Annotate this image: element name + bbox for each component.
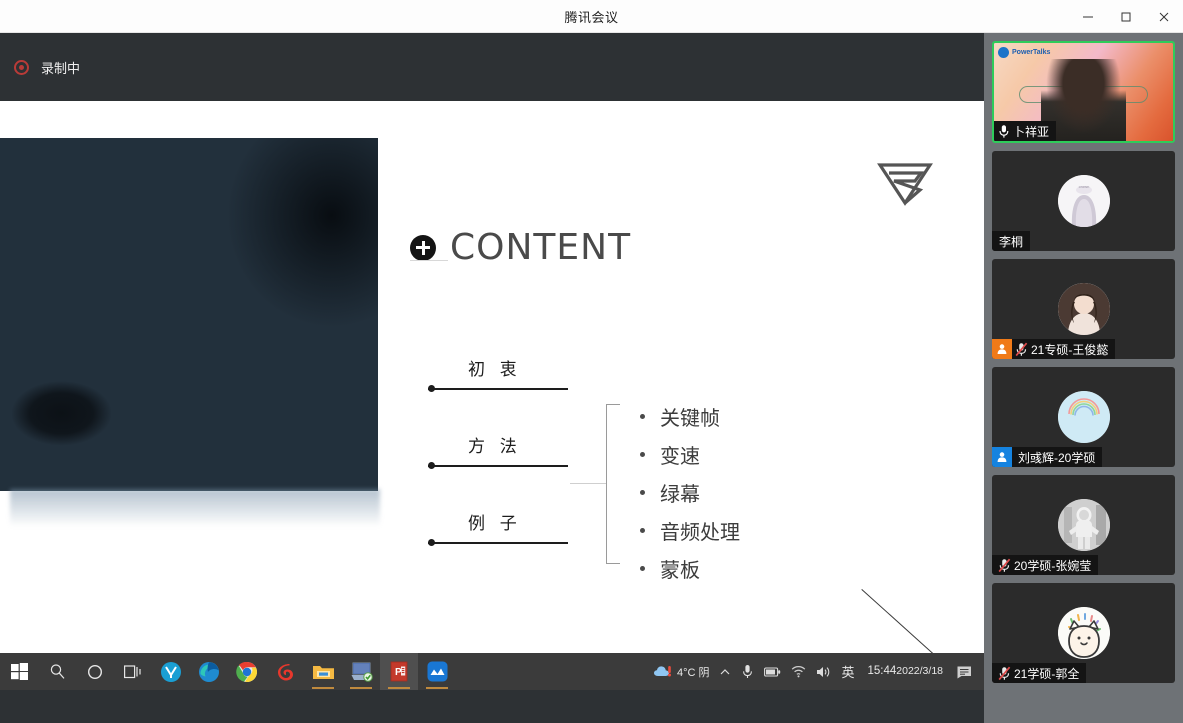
bullet-label: 关键帧 <box>660 402 720 431</box>
shared-screen-area: 录制中 CONTENT <box>0 33 984 723</box>
app-file-explorer[interactable] <box>304 653 342 690</box>
tray-volume[interactable] <box>811 653 836 690</box>
outline-rule <box>428 542 568 544</box>
slide-bullet-list: 关键帧 变速 绿幕 音频处理 蒙板 <box>640 397 740 587</box>
youdao-icon <box>160 661 182 683</box>
bullet-item: 绿幕 <box>640 473 740 511</box>
blue-app-icon <box>427 661 448 682</box>
host-badge <box>992 339 1012 359</box>
woman-portrait-avatar <box>1058 283 1110 335</box>
powertalks-logo-icon: PowerTalks <box>998 47 1050 58</box>
bullet-dot-icon <box>640 528 645 533</box>
app-sogou[interactable] <box>266 653 304 690</box>
recording-label: 录制中 <box>41 58 80 77</box>
recording-bar: 录制中 <box>0 33 984 101</box>
microphone-muted-icon <box>995 666 1014 681</box>
participant-name: 21专硕-王俊懿 <box>1031 341 1108 358</box>
participant-name: 21学硕-郭全 <box>1014 665 1079 682</box>
participant-name: 刘彧辉-20学硕 <box>1018 449 1095 466</box>
bullet-label: 蒙板 <box>660 554 700 583</box>
bullet-dot-icon <box>640 414 645 419</box>
app-chrome[interactable] <box>228 653 266 690</box>
tray-wifi[interactable] <box>786 653 811 690</box>
bullet-dot-icon <box>640 566 645 571</box>
participant-tile[interactable]: PowerTalks 卜祥亚 <box>992 41 1175 143</box>
minimize-button[interactable] <box>1069 0 1107 33</box>
avatar: crown <box>1058 175 1110 227</box>
start-button[interactable] <box>0 653 38 690</box>
battery-icon <box>764 666 781 678</box>
slide-photo-texture <box>0 138 378 491</box>
bullet-label: 绿幕 <box>660 478 700 507</box>
weather-widget[interactable]: 4°C 阴 <box>648 653 715 690</box>
edge-icon <box>198 661 220 683</box>
circle-icon <box>87 664 103 680</box>
participant-nametag: 20学硕-张婉莹 <box>992 555 1098 575</box>
participant-name: 卜祥亚 <box>1013 123 1049 140</box>
ocean-rainbow-avatar <box>1058 391 1110 443</box>
outline-item-label: 方 法 <box>468 432 522 457</box>
person-icon <box>996 451 1008 463</box>
chevron-up-icon <box>719 666 731 678</box>
volume-icon <box>816 665 831 679</box>
record-dot-icon <box>14 60 29 75</box>
app-blue[interactable] <box>418 653 456 690</box>
computer-icon <box>350 661 373 682</box>
avatar <box>1058 283 1110 335</box>
avatar <box>1058 391 1110 443</box>
avatar <box>1058 607 1110 659</box>
participant-nametag: 21专硕-王俊懿 <box>992 339 1115 359</box>
cat-avatar <box>1058 607 1110 659</box>
weather-label: 4°C 阴 <box>677 664 710 680</box>
participant-nametag: 李桐 <box>992 231 1030 251</box>
window-controls <box>1069 0 1183 33</box>
decorative-diagonal-line <box>861 589 984 653</box>
slide-title: CONTENT <box>450 227 631 268</box>
cortana-button[interactable] <box>76 653 114 690</box>
recording-indicator <box>14 60 29 75</box>
long-hair-girl-avatar: crown <box>1058 175 1110 227</box>
tray-battery[interactable] <box>759 653 786 690</box>
participant-name: 李桐 <box>999 233 1023 250</box>
participant-tile[interactable]: 21学硕-郭全 <box>992 583 1175 683</box>
microphone-icon <box>741 664 754 679</box>
powertalks-label: PowerTalks <box>1012 49 1050 56</box>
svg-text:P: P <box>395 667 402 678</box>
app-edge[interactable] <box>190 653 228 690</box>
slide-photo-reflection <box>10 489 380 527</box>
bullet-item: 变速 <box>640 435 740 473</box>
powerpoint-slide: CONTENT 初 衷 方 法 例 子 <box>0 101 984 653</box>
notification-center-button[interactable] <box>951 653 984 690</box>
participant-tile[interactable]: crown 李桐 <box>992 151 1175 251</box>
participant-tile[interactable]: 21专硕-王俊懿 <box>992 259 1175 359</box>
outline-dot-icon <box>428 539 435 546</box>
wifi-icon <box>791 665 806 678</box>
windows-logo-icon <box>11 663 28 680</box>
close-icon <box>1158 11 1170 23</box>
share-status-strip: 卜祥亚的屏幕共享 <box>0 690 984 723</box>
search-icon <box>49 663 66 680</box>
participant-panel[interactable]: PowerTalks 卜祥亚 <box>984 33 1183 723</box>
slide-title-row: CONTENT <box>410 227 631 268</box>
title-underline <box>410 260 448 261</box>
system-tray: 4°C 阴 <box>648 653 984 690</box>
outline-item: 例 子 <box>428 467 578 544</box>
outline-item: 方 法 <box>428 390 578 467</box>
astronaut-avatar <box>1058 499 1110 551</box>
ime-indicator[interactable]: 英 <box>836 653 859 690</box>
host-badge <box>992 447 1012 467</box>
outline-item-label: 初 衷 <box>468 355 522 380</box>
outline-item: 初 衷 <box>428 313 578 390</box>
participant-tile[interactable]: 刘彧辉-20学硕 <box>992 367 1175 467</box>
task-view-icon <box>124 664 142 680</box>
bullet-dot-icon <box>640 490 645 495</box>
participant-nametag: 卜祥亚 <box>994 121 1056 141</box>
bullet-item: 蒙板 <box>640 549 740 587</box>
minimize-icon <box>1082 11 1094 23</box>
diamond-logo-icon <box>874 160 936 208</box>
slide-outline-list: 初 衷 方 法 例 子 <box>428 313 578 544</box>
tencent-meeting-window: 腾讯会议 <box>0 0 1183 723</box>
bullet-dot-icon <box>640 452 645 457</box>
participant-nametag: 21学硕-郭全 <box>992 663 1086 683</box>
microphone-muted-icon <box>1012 342 1031 357</box>
bracket-stem <box>570 483 607 484</box>
app-powerpoint[interactable]: P <box>380 653 418 690</box>
slide-photo <box>0 138 378 491</box>
clock[interactable]: 15:44 2022/3/18 <box>860 653 952 690</box>
bracket-shape <box>606 404 620 564</box>
bullet-item: 关键帧 <box>640 397 740 435</box>
app-youdao[interactable] <box>152 653 190 690</box>
clock-date: 2022/3/18 <box>896 665 943 678</box>
sogou-icon <box>274 661 296 683</box>
participant-tile[interactable]: 20学硕-张婉莹 <box>992 475 1175 575</box>
window-title: 腾讯会议 <box>564 7 618 26</box>
participant-name: 20学硕-张婉莹 <box>1014 557 1091 574</box>
participant-nametag: 刘彧辉-20学硕 <box>992 447 1102 467</box>
windows-taskbar: P <box>0 653 984 690</box>
microphone-icon <box>994 124 1013 139</box>
clock-time: 15:44 <box>868 665 897 678</box>
powerpoint-icon: P <box>390 661 408 682</box>
close-button[interactable] <box>1145 0 1183 33</box>
bullet-label: 音频处理 <box>660 516 740 545</box>
cloud-icon <box>653 664 673 680</box>
bullet-label: 变速 <box>660 440 700 469</box>
notification-icon <box>956 664 974 680</box>
maximize-button[interactable] <box>1107 0 1145 33</box>
tray-microphone[interactable] <box>736 653 759 690</box>
person-icon <box>996 343 1008 355</box>
bullet-item: 音频处理 <box>640 511 740 549</box>
folder-icon <box>312 662 335 682</box>
microphone-muted-icon <box>995 558 1014 573</box>
svg-text:crown: crown <box>1078 184 1089 189</box>
outline-item-label: 例 子 <box>468 509 522 534</box>
task-view-button[interactable] <box>114 653 152 690</box>
maximize-icon <box>1120 11 1132 23</box>
app-computer[interactable] <box>342 653 380 690</box>
tray-expand-button[interactable] <box>714 653 736 690</box>
title-bar: 腾讯会议 <box>0 0 1183 33</box>
avatar <box>1058 499 1110 551</box>
chrome-icon <box>236 661 258 683</box>
search-button[interactable] <box>38 653 76 690</box>
plus-circle-icon <box>410 235 436 261</box>
video-banner-shape <box>1019 86 1148 103</box>
